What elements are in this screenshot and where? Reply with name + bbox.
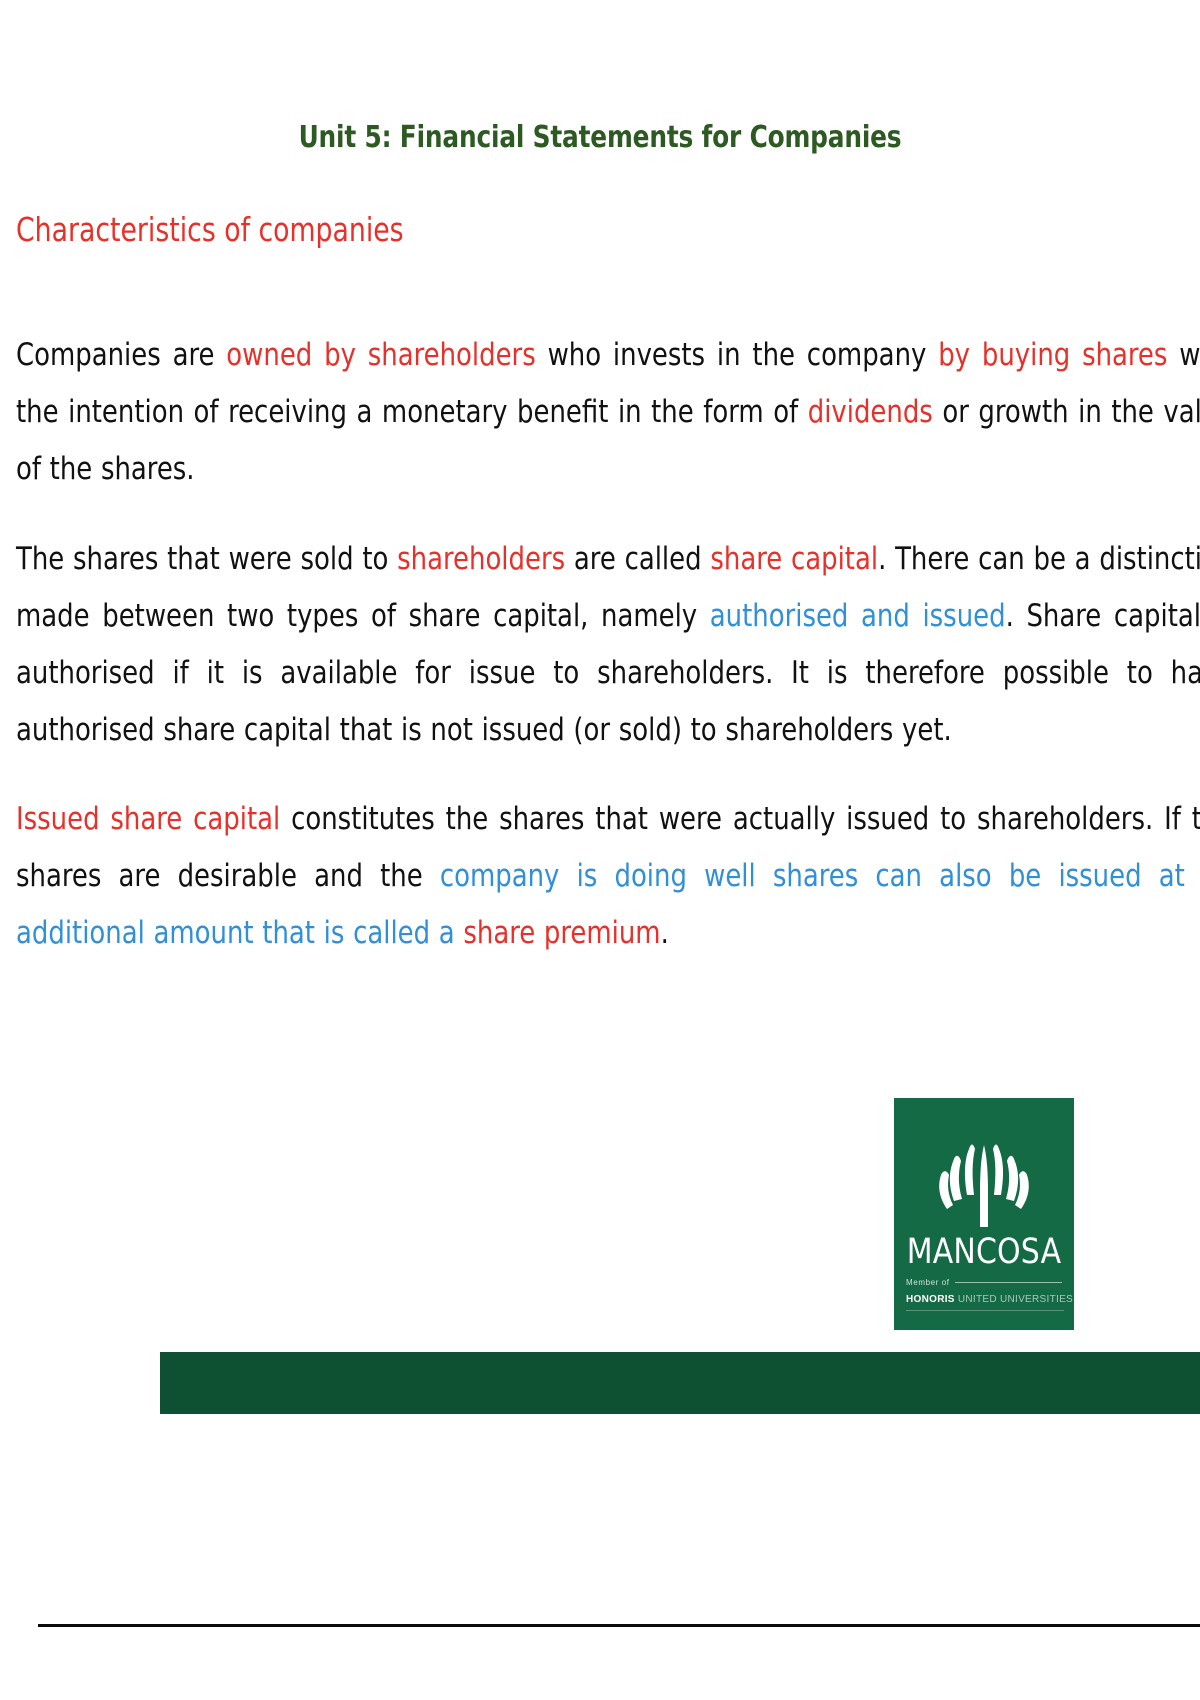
- page-bottom-rule: [38, 1624, 1200, 1627]
- logo-member-of-label: Member of: [906, 1278, 950, 1287]
- p3-seg5: .: [661, 915, 669, 951]
- logo-honoris-rest: UNITED UNIVERSITIES: [955, 1294, 1073, 1305]
- footer-band: [160, 1352, 1200, 1414]
- p1-highlight-owned-by-shareholders: owned by shareholders: [226, 337, 535, 373]
- paragraph-issued-share-capital: Issued share capital constitutes the sha…: [16, 791, 1200, 962]
- p3-highlight-share-premium: share premium: [463, 915, 660, 951]
- p2-seg1: The shares that were sold to: [16, 541, 397, 577]
- logo-member-of: Member of: [906, 1278, 1062, 1287]
- p2-highlight-authorised-and-issued: authorised and issued: [710, 598, 1006, 634]
- logo-bottom-rule: [906, 1310, 1064, 1311]
- p1-seg3: who invests in the company: [536, 337, 938, 373]
- p1-highlight-by-buying-shares: by buying shares: [938, 337, 1167, 373]
- mancosa-logo: MANCOSA Member of HONORIS UNITED UNIVERS…: [894, 1098, 1074, 1330]
- logo-honoris-bold: HONORIS: [906, 1294, 955, 1305]
- page-title: Unit 5: Financial Statements for Compani…: [48, 120, 1152, 155]
- logo-honoris-line: HONORIS UNITED UNIVERSITIES: [906, 1294, 1064, 1305]
- wheat-sheaf-icon: [894, 1112, 1074, 1230]
- p3-highlight-issued-share-capital: Issued share capital: [16, 801, 280, 837]
- p1-highlight-dividends: dividends: [808, 394, 933, 430]
- p2-highlight-shareholders: shareholders: [397, 541, 565, 577]
- logo-divider: [955, 1282, 1062, 1283]
- section-heading: Characteristics of companies: [16, 210, 404, 249]
- logo-wordmark: MANCOSA: [899, 1232, 1070, 1272]
- slide-canvas: Unit 5: Financial Statements for Compani…: [0, 0, 1200, 1700]
- paragraph-characteristics: Companies are owned by shareholders who …: [16, 327, 1200, 498]
- p2-highlight-share-capital: share capital: [710, 541, 878, 577]
- p1-seg1: Companies are: [16, 337, 226, 373]
- p2-seg3: are called: [565, 541, 710, 577]
- paragraph-share-capital: The shares that were sold to shareholder…: [16, 531, 1200, 759]
